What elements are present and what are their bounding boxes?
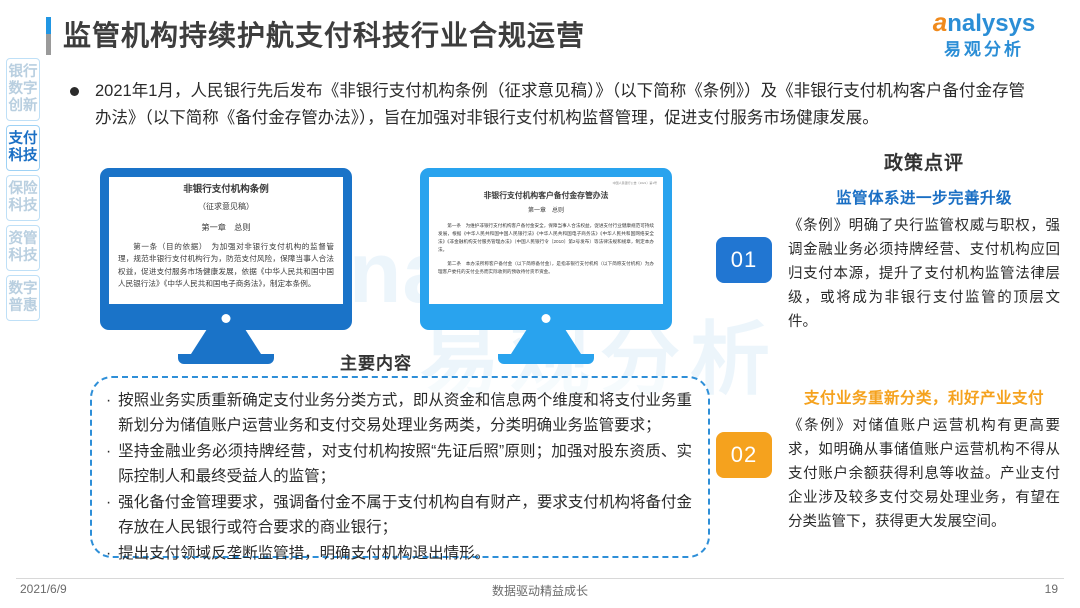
page-header: 监管机构持续护航支付科技行业合规运营 analysys 易观分析 [0, 0, 1080, 70]
badge-number-02: 02 [716, 432, 772, 478]
sidebar-item-label: 保险科技 [7, 181, 39, 215]
monitor-neck [511, 330, 581, 354]
monitor-base [178, 354, 274, 364]
document-chapter: 第一章 总则 [438, 207, 654, 215]
document-title: 非银行支付机构条例 [118, 184, 334, 197]
analysys-logo: analysys 易观分析 [914, 8, 1054, 61]
document-subtitle: （征求意见稿） [118, 201, 334, 214]
document-paragraph-2: 第二条 本办法所称客户备付金（以下简称备付金），是指非银行支付机构（以下简称支付… [438, 260, 654, 276]
commentary-heading: 监管体系进一步完善升级 [788, 186, 1060, 208]
monitor-base [498, 354, 594, 364]
document-title: 非银行支付机构客户备付金存管办法 [438, 192, 654, 200]
list-item-text: 按照业务实质重新确定支付业务分类方式，即从资金和信息两个维度和将支付业务重新划分… [118, 388, 692, 438]
intro-paragraph: 2021年1月，人民银行先后发布《非银行支付机构条例（征求意见稿）》（以下简称《… [70, 78, 1025, 132]
document-custody: 中国人民银行公告〔2021〕第1号 非银行支付机构客户备付金存管办法 第一章 总… [429, 177, 663, 304]
sidebar-item-label: 数字普惠 [7, 281, 39, 315]
sidebar-item-digital-inclusive[interactable]: 数字普惠 [6, 275, 40, 321]
main-content-box: · 按照业务实质重新确定支付业务分类方式，即从资金和信息两个维度和将支付业务重新… [90, 376, 710, 558]
title-accent-bar [46, 17, 51, 55]
title-wrapper: 监管机构持续护航支付科技行业合规运营 [46, 17, 585, 55]
intro-text: 2021年1月，人民银行先后发布《非银行支付机构条例（征求意见稿）》（以下简称《… [95, 78, 1025, 132]
monitor-power-dot-icon [542, 314, 551, 323]
list-item: · 强化备付金管理要求，强调备付金不属于支付机构自有财产，要求支付机构将备付金存… [106, 490, 692, 540]
sidebar: 银行数字创新 支付科技 保险科技 资管科技 数字普惠 [6, 58, 44, 325]
page-title: 监管机构持续护航支付科技行业合规运营 [63, 17, 585, 55]
monitor-power-dot-icon [222, 314, 231, 323]
footer-divider [16, 578, 1064, 579]
list-bullet-icon: · [106, 388, 111, 438]
commentary-body: 《条例》明确了央行监管权威与职权，强调金融业务必须持牌经营、支付机构应回归支付本… [788, 214, 1060, 334]
commentary-block-2: 支付业务重新分类，利好产业支付 《条例》对储值账户运营机构有更高要求，如明确从事… [788, 386, 1060, 534]
sidebar-item-label: 资管科技 [7, 231, 39, 265]
document-paragraph: 第一条（目的依据） 为加强对非银行支付机构的监督管理，规范非银行支付机构行为，防… [118, 241, 334, 291]
list-bullet-icon: · [106, 439, 111, 489]
sidebar-item-label: 支付科技 [7, 131, 39, 165]
commentary-block-1: 监管体系进一步完善升级 《条例》明确了央行监管权威与职权，强调金融业务必须持牌经… [788, 186, 1060, 334]
monitor-custody-document: 中国人民银行公告〔2021〕第1号 非银行支付机构客户备付金存管办法 第一章 总… [420, 168, 672, 364]
footer-slogan: 数据驱动精益成长 [0, 582, 1080, 599]
sidebar-item-label: 银行数字创新 [7, 64, 39, 115]
document-chapter: 第一章 总则 [118, 222, 334, 235]
sidebar-item-insurance-tech[interactable]: 保险科技 [6, 175, 40, 221]
logo-wordmark-rest: nalysys [947, 10, 1035, 37]
list-item-text: 提出支付领域反垄断监管措，明确支付机构退出情形。 [118, 541, 490, 566]
monitor-screen: 非银行支付机构条例 （征求意见稿） 第一章 总则 第一条（目的依据） 为加强对非… [109, 177, 343, 304]
document-regulation: 非银行支付机构条例 （征求意见稿） 第一章 总则 第一条（目的依据） 为加强对非… [109, 177, 343, 304]
logo-wordmark: analysys [914, 8, 1054, 38]
sidebar-item-payment-tech[interactable]: 支付科技 [6, 125, 40, 171]
list-item: · 按照业务实质重新确定支付业务分类方式，即从资金和信息两个维度和将支付业务重新… [106, 388, 692, 438]
monitor-frame: 非银行支付机构条例 （征求意见稿） 第一章 总则 第一条（目的依据） 为加强对非… [100, 168, 352, 330]
list-item-text: 强化备付金管理要求，强调备付金不属于支付机构自有财产，要求支付机构将备付金存放在… [118, 490, 692, 540]
commentary-heading: 支付业务重新分类，利好产业支付 [788, 386, 1060, 408]
document-stamp: 中国人民银行公告〔2021〕第1号 [613, 179, 657, 187]
list-item: · 坚持金融业务必须持牌经营，对支付机构按照“先证后照”原则；加强对股东资质、实… [106, 439, 692, 489]
commentary-title: 政策点评 [788, 148, 1060, 175]
document-paragraph-1: 第一条 为维护非银行支付机构客户备付金安全，保障当事人合法权益，促进支付行业健康… [438, 222, 654, 254]
badge-number-01: 01 [716, 237, 772, 283]
logo-chinese-name: 易观分析 [914, 39, 1054, 61]
monitor-screen: 中国人民银行公告〔2021〕第1号 非银行支付机构客户备付金存管办法 第一章 总… [429, 177, 663, 304]
list-item: · 提出支付领域反垄断监管措，明确支付机构退出情形。 [106, 541, 692, 566]
monitor-regulation-document: 非银行支付机构条例 （征求意见稿） 第一章 总则 第一条（目的依据） 为加强对非… [100, 168, 352, 364]
monitor-frame: 中国人民银行公告〔2021〕第1号 非银行支付机构客户备付金存管办法 第一章 总… [420, 168, 672, 330]
list-bullet-icon: · [106, 490, 111, 540]
list-bullet-icon: · [106, 541, 111, 566]
main-content-heading: 主要内容 [340, 349, 412, 374]
monitor-neck [191, 330, 261, 354]
bullet-dot-icon [70, 87, 79, 96]
footer-page-number: 19 [1045, 582, 1058, 596]
list-item-text: 坚持金融业务必须持牌经营，对支付机构按照“先证后照”原则；加强对股东资质、实际控… [118, 439, 692, 489]
sidebar-item-bank-digital[interactable]: 银行数字创新 [6, 58, 40, 121]
sidebar-item-asset-tech[interactable]: 资管科技 [6, 225, 40, 271]
commentary-body: 《条例》对储值账户运营机构有更高要求，如明确从事储值账户运营机构不得从支付账户余… [788, 414, 1060, 534]
logo-a-letter: a [933, 7, 947, 37]
